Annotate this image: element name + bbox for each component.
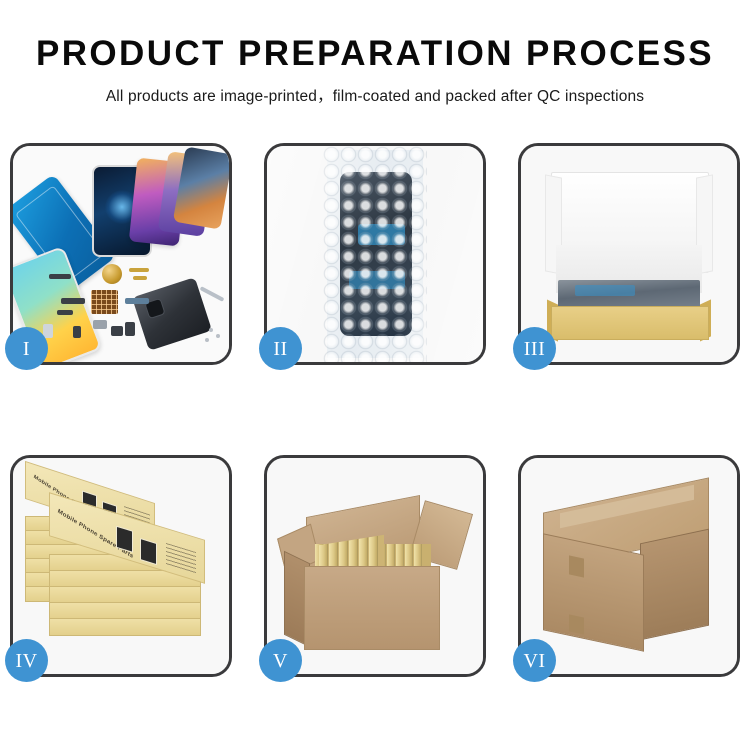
carton-front-face [543, 534, 644, 653]
connector-part-1 [61, 298, 85, 304]
step-badge-6: VI [513, 639, 556, 682]
retail-box-front-5 [49, 618, 201, 636]
flex-cable-part-2 [133, 276, 147, 280]
screw-part-3 [205, 338, 209, 342]
step-badge-1: I [5, 327, 48, 370]
step-image-4: Mobile Phone Spare Parts Mobile Phone Sp… [13, 458, 229, 674]
header: PRODUCT PREPARATION PROCESS All products… [0, 0, 750, 106]
step-panel-3: III [518, 143, 740, 365]
metal-bracket-part [93, 320, 107, 329]
box-art-screen-front-2 [140, 538, 157, 565]
step-badge-5: V [259, 639, 302, 682]
open-shipping-carton-illustration [267, 458, 483, 674]
steps-grid: I II [10, 143, 740, 677]
stacked-retail-boxes-illustration: Mobile Phone Spare Parts Mobile Phone Sp… [13, 458, 229, 674]
step-badge-4: IV [5, 639, 48, 682]
connector-part-2 [57, 310, 73, 315]
button-part [73, 326, 81, 338]
step-panel-2: II [264, 143, 486, 365]
camera-module-part [111, 326, 123, 336]
step-panel-5: V [264, 455, 486, 677]
speaker-part [49, 274, 71, 279]
screw-part-2 [216, 334, 220, 338]
step-image-6 [521, 458, 737, 674]
carton-handle-cut-bottom [569, 614, 584, 634]
product-preparation-infographic: PRODUCT PREPARATION PROCESS All products… [0, 0, 750, 750]
step-panel-4: Mobile Phone Spare Parts Mobile Phone Sp… [10, 455, 232, 677]
carton-front-panel [304, 566, 440, 650]
copper-coil-part [102, 264, 122, 284]
plastic-sheen [267, 146, 483, 362]
step-image-2 [267, 146, 483, 362]
battery-connector-part [125, 322, 135, 336]
step-image-3 [521, 146, 737, 362]
step-panel-1: I [10, 143, 232, 365]
carton-handle-cut-top [569, 556, 584, 579]
open-inner-box-illustration [521, 146, 737, 362]
step-badge-3: III [513, 327, 556, 370]
box-front-panel [551, 306, 709, 340]
step-image-5 [267, 458, 483, 674]
flex-cable-part-1 [129, 268, 149, 272]
sealed-shipping-carton-illustration [521, 458, 737, 674]
chip-grid-part [91, 290, 118, 314]
products-and-spare-parts-illustration [13, 146, 229, 362]
flex-cable-part-3 [125, 298, 149, 304]
page-subtitle: All products are image-printed，film-coat… [0, 71, 750, 106]
step-image-1 [13, 146, 229, 362]
carton-right-face [640, 528, 709, 640]
step-panel-6: VI [518, 455, 740, 677]
box-spec-lines-front [166, 543, 196, 574]
screw-part-1 [209, 328, 213, 332]
bubble-wrapped-screen-illustration [267, 146, 483, 362]
step-badge-2: II [259, 327, 302, 370]
page-title: PRODUCT PREPARATION PROCESS [0, 0, 750, 71]
